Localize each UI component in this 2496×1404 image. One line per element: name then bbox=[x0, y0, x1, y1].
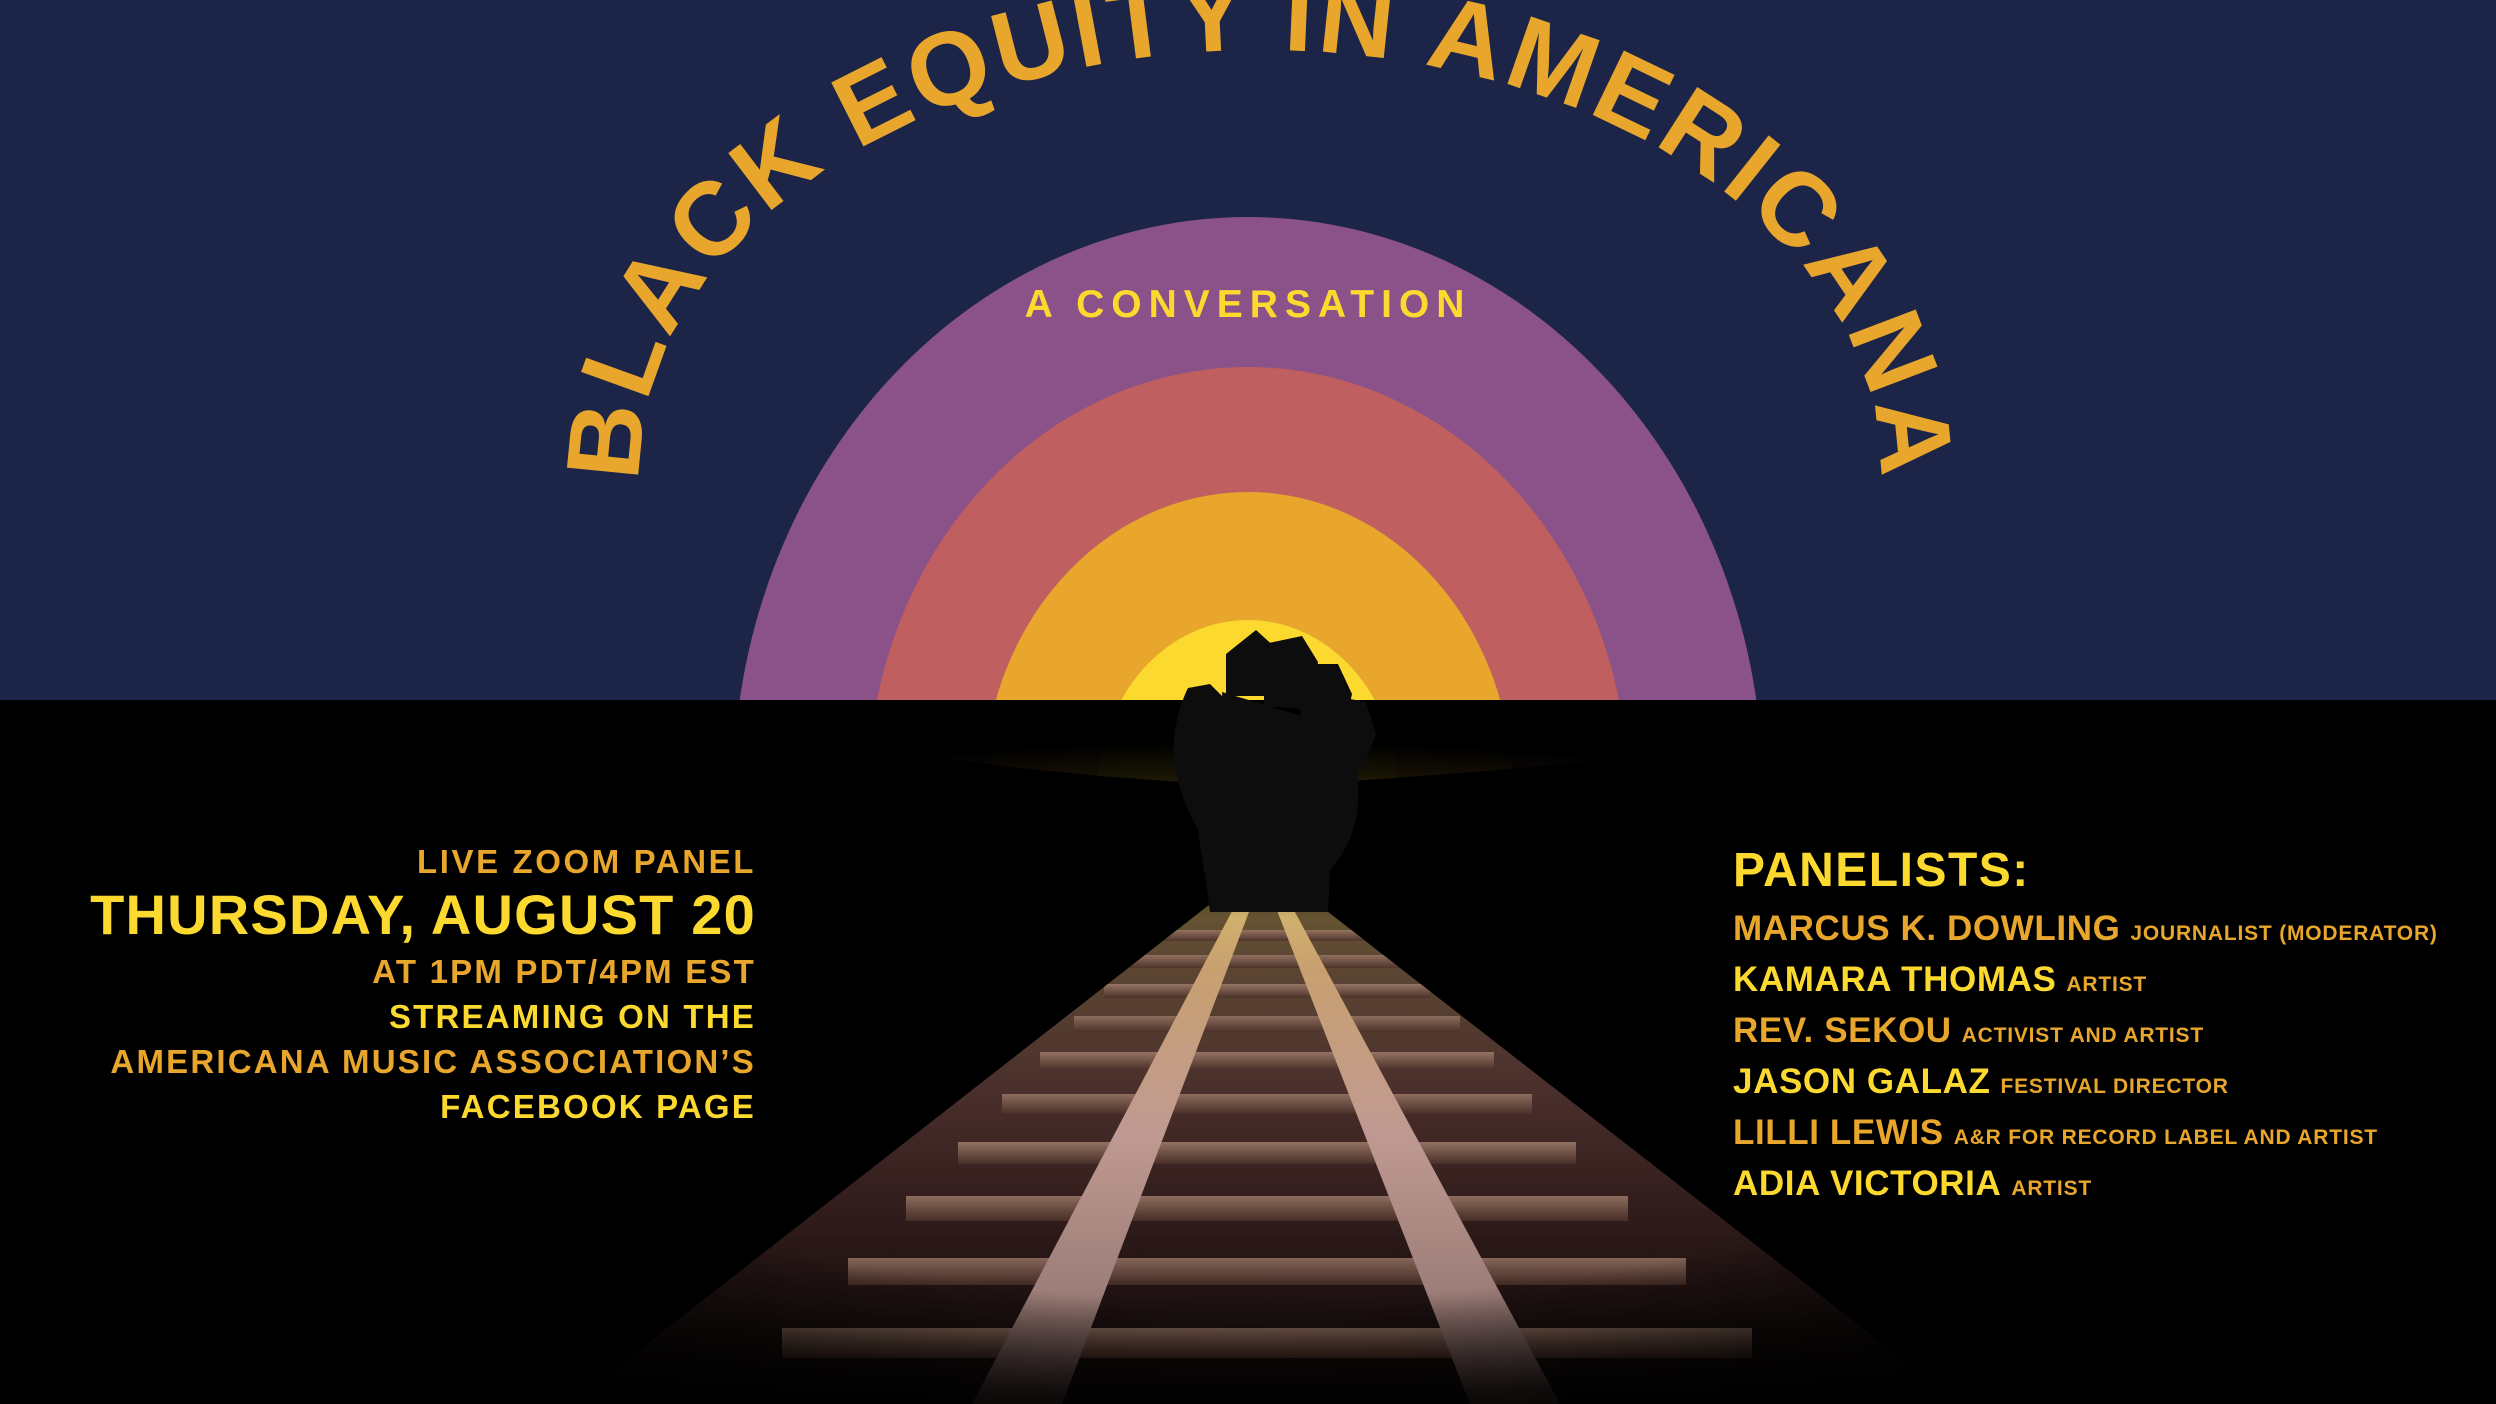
panelist-name: JASON GALAZ bbox=[1733, 1062, 1990, 1101]
panelist-row: MARCUS K. DOWLINGJOURNALIST (MODERATOR) bbox=[1733, 911, 2438, 946]
panelist-row: REV. SEKOUACTIVIST AND ARTIST bbox=[1733, 1013, 2438, 1048]
panelist-row: LILLI LEWISA&R FOR RECORD LABEL AND ARTI… bbox=[1733, 1115, 2438, 1150]
poster-subtitle: A CONVERSATION bbox=[0, 283, 2496, 327]
panelist-role: JOURNALIST (MODERATOR) bbox=[2130, 922, 2437, 945]
panelist-role: ACTIVIST AND ARTIST bbox=[1962, 1024, 2204, 1047]
event-line-facebook-page: FACEBOOK PAGE bbox=[90, 1090, 756, 1124]
event-line-date: THURSDAY, AUGUST 20 bbox=[90, 886, 756, 944]
panelist-name: MARCUS K. DOWLING bbox=[1733, 909, 2120, 948]
panelist-row: ADIA VICTORIAARTIST bbox=[1733, 1166, 2438, 1201]
poster-canvas: BLACK EQUITY IN AMERICANA A CONVERSATION bbox=[0, 0, 2496, 1404]
event-details-block: LIVE ZOOM PANEL THURSDAY, AUGUST 20 AT 1… bbox=[90, 845, 756, 1125]
event-line-time: AT 1PM PDT/4PM EST bbox=[90, 955, 756, 989]
panelist-row: KAMARA THOMASARTIST bbox=[1733, 962, 2438, 997]
panelist-role: A&R FOR RECORD LABEL AND ARTIST bbox=[1954, 1126, 2378, 1149]
panelist-role: ARTIST bbox=[2066, 973, 2147, 996]
event-line-live-zoom-panel: LIVE ZOOM PANEL bbox=[90, 845, 756, 879]
panelist-role: ARTIST bbox=[2011, 1177, 2092, 1200]
panelist-name: REV. SEKOU bbox=[1733, 1011, 1952, 1050]
event-line-organization: AMERICANA MUSIC ASSOCIATION’S bbox=[90, 1045, 756, 1079]
panelist-role: FESTIVAL DIRECTOR bbox=[2000, 1075, 2228, 1098]
raised-fist-icon bbox=[1152, 592, 1434, 912]
panelist-name: KAMARA THOMAS bbox=[1733, 960, 2056, 999]
panelists-heading: PANELISTS: bbox=[1733, 843, 2438, 898]
event-line-streaming-on-the: STREAMING ON THE bbox=[90, 1000, 756, 1034]
panelists-block: PANELISTS: MARCUS K. DOWLINGJOURNALIST (… bbox=[1733, 843, 2438, 1217]
panelist-row: JASON GALAZFESTIVAL DIRECTOR bbox=[1733, 1064, 2438, 1099]
panelist-name: ADIA VICTORIA bbox=[1733, 1164, 2001, 1203]
panelist-name: LILLI LEWIS bbox=[1733, 1113, 1944, 1152]
